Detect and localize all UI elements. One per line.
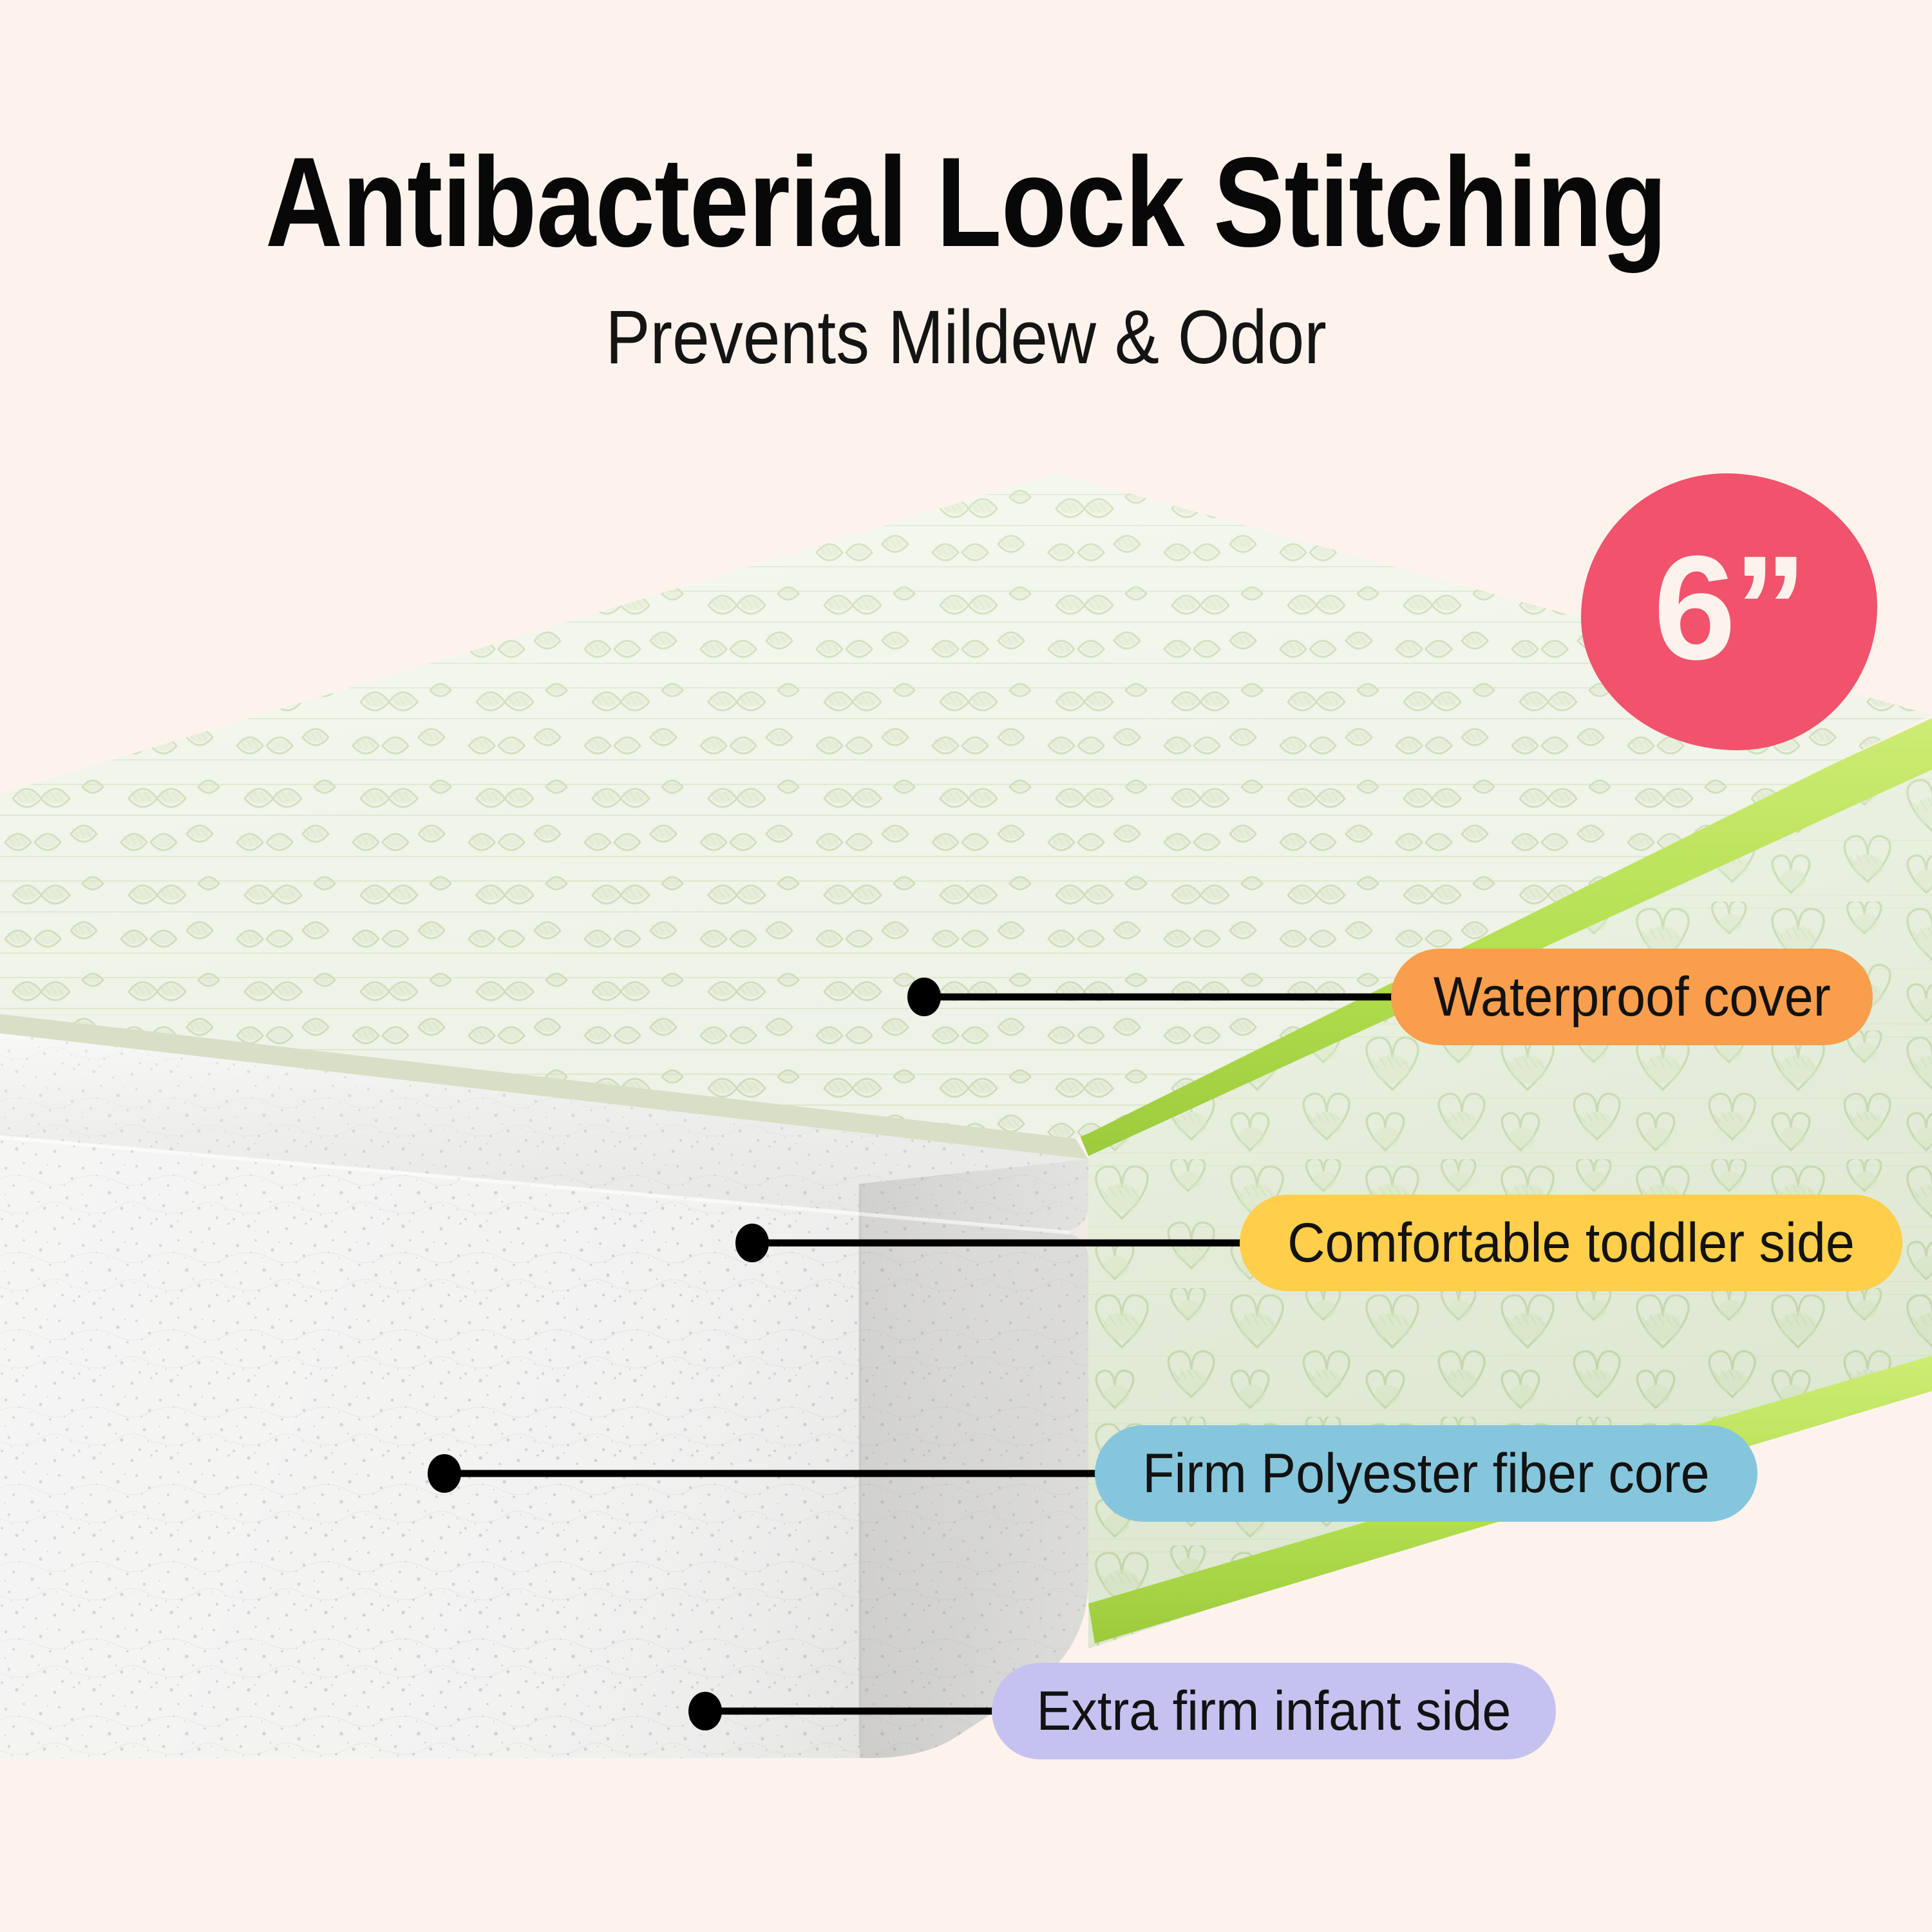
callout-waterproof-cover[interactable]: Waterproof cover bbox=[1391, 949, 1873, 1045]
callout-extra-firm-infant-side[interactable]: Extra firm infant side bbox=[992, 1663, 1556, 1759]
callout-label: Firm Polyester fiber core bbox=[1142, 1446, 1709, 1501]
callout-comfortable-toddler-side[interactable]: Comfortable toddler side bbox=[1240, 1195, 1902, 1291]
callout-label: Comfortable toddler side bbox=[1287, 1215, 1855, 1271]
infographic-canvas: Antibacterial Lock Stitching Prevents Mi… bbox=[0, 0, 1932, 1932]
callout-firm-polyester-fiber-core[interactable]: Firm Polyester fiber core bbox=[1095, 1425, 1757, 1522]
size-badge: 6” bbox=[1581, 473, 1877, 750]
callout-label: Waterproof cover bbox=[1434, 969, 1831, 1025]
size-badge-value: 6” bbox=[1654, 534, 1805, 682]
callout-label: Extra firm infant side bbox=[1037, 1683, 1511, 1739]
